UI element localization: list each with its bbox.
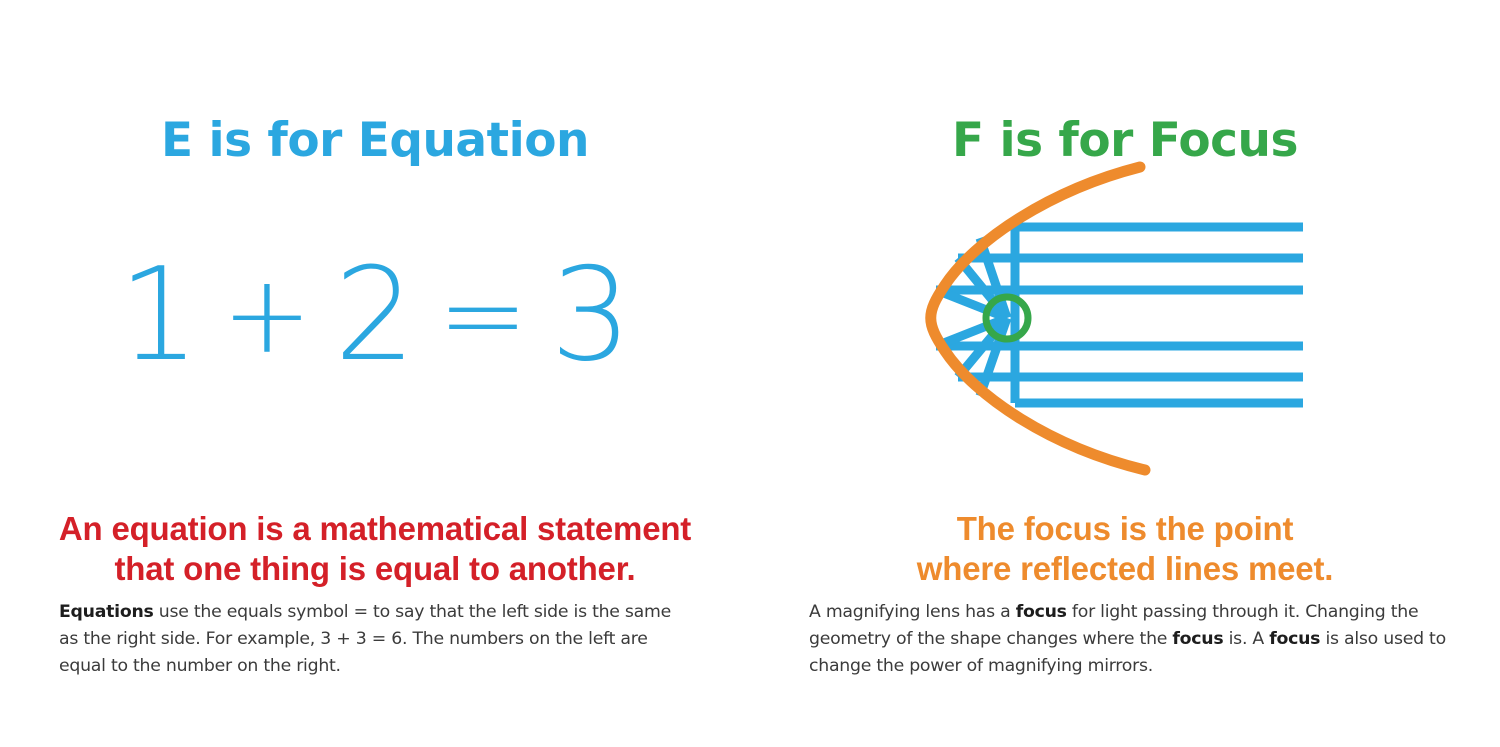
body-lead-term-equation: Equations — [59, 602, 154, 622]
reflected-ray-5 — [958, 318, 1007, 377]
reflected-ray-upper-wall — [980, 238, 1007, 318]
definition-focus: The focus is the point where reflected l… — [775, 509, 1475, 588]
equation-result: 3 — [546, 246, 635, 386]
reflected-ray-4 — [936, 318, 1007, 346]
body-part3-focus: is. A — [1223, 629, 1269, 649]
definition-equation: An equation is a mathematical statement … — [25, 509, 725, 588]
page-title-equation: E is for Equation — [0, 117, 750, 164]
poster-page: E is for Equation 1 + 2 = 3 An equation … — [0, 0, 1500, 747]
equation-term-2: 2 — [330, 246, 419, 386]
parabola-curve — [931, 167, 1145, 470]
body-text-focus: A magnifying lens has a focus for light … — [809, 599, 1455, 680]
equals-icon: = — [420, 246, 547, 386]
page-title-focus: F is for Focus — [750, 117, 1500, 164]
body-bold2-focus: focus — [1172, 629, 1223, 649]
reflected-ray-3 — [936, 290, 1007, 318]
panel-focus: F is for Focus — [750, 0, 1500, 747]
panel-equation: E is for Equation 1 + 2 = 3 An equation … — [0, 0, 750, 747]
plus-icon: + — [204, 246, 331, 386]
reflected-ray-lower-wall — [980, 318, 1007, 396]
light-rays-group — [936, 227, 1303, 403]
parabola-focus-diagram — [750, 0, 1500, 560]
focus-point-icon — [986, 297, 1028, 339]
body-text-equation: Equations use the equals symbol = to say… — [59, 599, 692, 680]
body-part1-focus: A magnifying lens has a — [809, 602, 1016, 622]
equation-term-1: 1 — [114, 246, 203, 386]
body-bold1-focus: focus — [1016, 602, 1067, 622]
body-bold3-focus: focus — [1269, 629, 1320, 649]
equation-artwork: 1 + 2 = 3 — [0, 246, 750, 406]
reflected-ray-2 — [958, 258, 1007, 318]
